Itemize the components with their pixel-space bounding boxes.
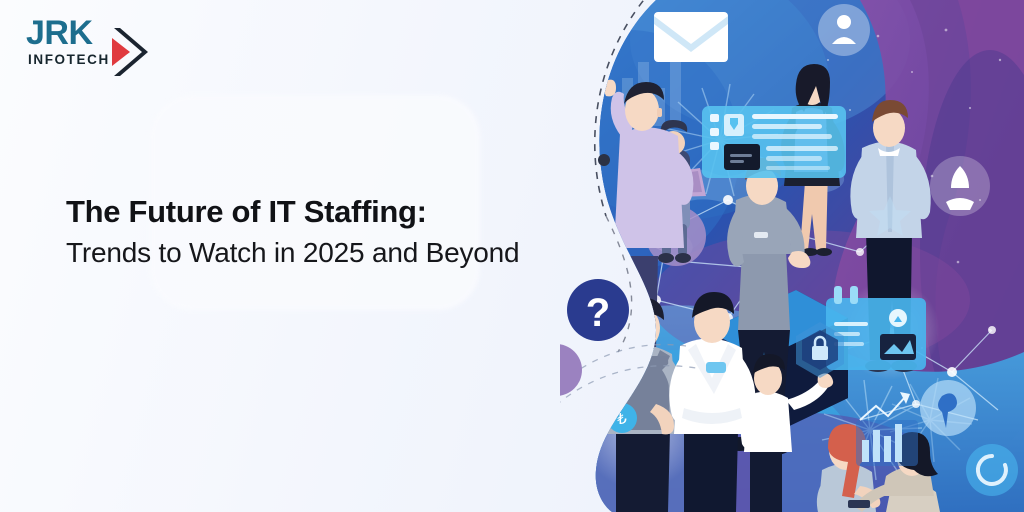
svg-text:?: ? [586, 291, 610, 335]
currency-icon: ₺ [607, 403, 637, 433]
illustration-backdrop: ₺ [560, 0, 1024, 512]
email-envelope-icon [654, 12, 728, 62]
hero-banner: JRK INFOTECH The Future of IT Staffing: … [0, 0, 1024, 512]
page-subtitle: Trends to Watch in 2025 and Beyond [66, 235, 606, 271]
edit-pen-icon [920, 380, 976, 436]
presenter-figure-main [605, 226, 608, 230]
mauve-circle-accent [560, 344, 582, 396]
arc-node-dot [598, 154, 610, 166]
brand-tagline: INFOTECH [28, 53, 110, 67]
refresh-icon [966, 444, 1018, 496]
hero-illustration: ₺ [560, 0, 1024, 512]
svg-text:₺: ₺ [617, 412, 627, 428]
rocket-icon [930, 156, 990, 216]
dashboard-card-icon [702, 106, 846, 178]
brand-wordmark: JRK [26, 16, 93, 50]
page-title: The Future of IT Staffing: [66, 193, 606, 231]
user-profile-icon [818, 4, 870, 56]
brand-logo[interactable]: JRK INFOTECH [26, 16, 156, 78]
headline-block: The Future of IT Staffing: Trends to Wat… [66, 193, 606, 271]
question-mark-icon: ? [567, 279, 629, 341]
chevron-arrow-icon [108, 24, 156, 80]
